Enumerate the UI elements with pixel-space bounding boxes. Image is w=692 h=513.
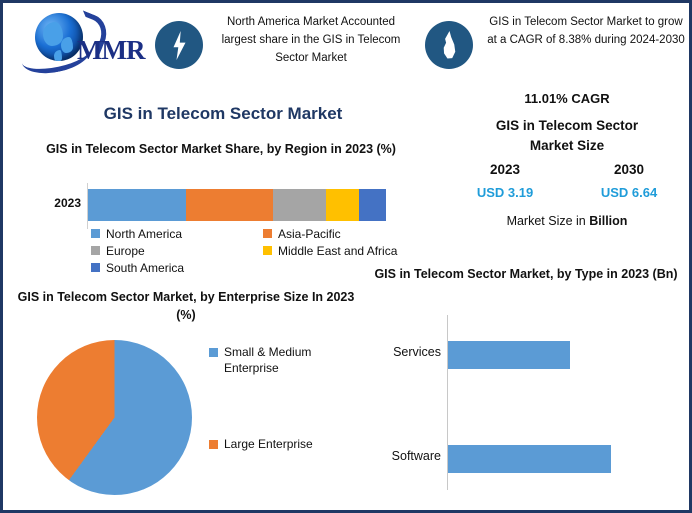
year-end: 2030: [579, 162, 679, 177]
unit-note-prefix: Market Size in: [507, 214, 590, 228]
stacked-bar-segment: [359, 189, 386, 221]
bar-plot: ServicesSoftware: [361, 315, 691, 495]
legend-label: Europe: [106, 244, 145, 258]
category-label: 2023: [29, 196, 81, 210]
legend-swatch-icon: [209, 348, 218, 357]
chart-title: GIS in Telecom Sector Market, by Enterpr…: [11, 288, 361, 324]
stacked-bar-segment: [273, 189, 327, 221]
chart-legend: Small & Medium EnterpriseLarge Enterpris…: [209, 344, 354, 452]
legend-item[interactable]: Asia-Pacific: [263, 225, 421, 242]
cagr-value: 11.01% CAGR: [443, 91, 691, 106]
chart-title: GIS in Telecom Sector Market, by Type in…: [361, 265, 691, 283]
region-share-chart: GIS in Telecom Sector Market Share, by R…: [11, 141, 431, 281]
value-start: USD 3.19: [455, 185, 555, 200]
legend-label: Small & Medium Enterprise: [224, 344, 354, 376]
bar: [448, 445, 611, 473]
market-size-values: USD 3.19 USD 6.64: [443, 185, 691, 200]
flame-icon: [441, 31, 458, 59]
legend-swatch-icon: [263, 246, 272, 255]
bar-category-label: Software: [361, 449, 441, 463]
legend-item[interactable]: North America: [91, 225, 263, 242]
stacked-bar: [88, 189, 386, 221]
logo-text: MMR: [77, 35, 144, 66]
stacked-bar-segment: [186, 189, 272, 221]
legend-swatch-icon: [263, 229, 272, 238]
lightning-bolt-badge: [155, 21, 203, 69]
bar-category-label: Services: [361, 345, 441, 359]
market-size-unit-note: Market Size in Billion: [443, 214, 691, 228]
type-chart: GIS in Telecom Sector Market, by Type in…: [361, 265, 691, 510]
legend-label: North America: [106, 227, 182, 241]
stacked-bar-segment: [88, 189, 186, 221]
legend-label: South America: [106, 261, 184, 275]
enterprise-size-chart: GIS in Telecom Sector Market, by Enterpr…: [11, 288, 361, 510]
market-size-title-line2: Market Size: [443, 136, 691, 156]
market-size-panel: 11.01% CAGR GIS in Telecom Sector Market…: [443, 91, 691, 259]
legend-label: Large Enterprise: [224, 436, 313, 452]
value-end: USD 6.64: [579, 185, 679, 200]
chart-title: GIS in Telecom Sector Market Share, by R…: [11, 141, 431, 158]
legend-item[interactable]: Middle East and Africa: [263, 242, 421, 259]
legend-label: Asia-Pacific: [278, 227, 341, 241]
year-start: 2023: [455, 162, 555, 177]
header-stat-text: North America Market Accounted largest s…: [213, 13, 409, 67]
legend-item[interactable]: South America: [91, 259, 263, 276]
unit-note-unit: Billion: [589, 214, 627, 228]
header: MMR North America Market Accounted large…: [3, 3, 689, 85]
market-size-title-line1: GIS in Telecom Sector: [443, 116, 691, 136]
legend-item[interactable]: Europe: [91, 242, 263, 259]
header-stat-text: GIS in Telecom Sector Market to grow at …: [483, 13, 689, 49]
legend-row: North AmericaAsia-Pacific: [91, 225, 421, 242]
legend-item[interactable]: Small & Medium Enterprise: [209, 344, 354, 376]
legend-item[interactable]: Large Enterprise: [209, 436, 354, 452]
legend-swatch-icon: [91, 263, 100, 272]
legend-label: Middle East and Africa: [278, 244, 397, 258]
market-size-title: GIS in Telecom Sector Market Size: [443, 116, 691, 156]
legend-swatch-icon: [209, 440, 218, 449]
pie-chart: [37, 340, 192, 495]
legend-swatch-icon: [91, 229, 100, 238]
market-size-years: 2023 2030: [443, 162, 691, 177]
bar: [448, 341, 570, 369]
legend-spacer: [209, 376, 354, 436]
page-title: GIS in Telecom Sector Market: [13, 104, 433, 124]
stacked-bar-segment: [326, 189, 359, 221]
flame-badge: [425, 21, 473, 69]
mmr-logo: MMR: [15, 9, 147, 71]
legend-swatch-icon: [91, 246, 100, 255]
stacked-bar-plot: 2023: [11, 183, 431, 229]
legend-row: EuropeMiddle East and Africa: [91, 242, 421, 259]
lightning-bolt-icon: [172, 31, 187, 60]
infographic-frame: MMR North America Market Accounted large…: [0, 0, 692, 513]
